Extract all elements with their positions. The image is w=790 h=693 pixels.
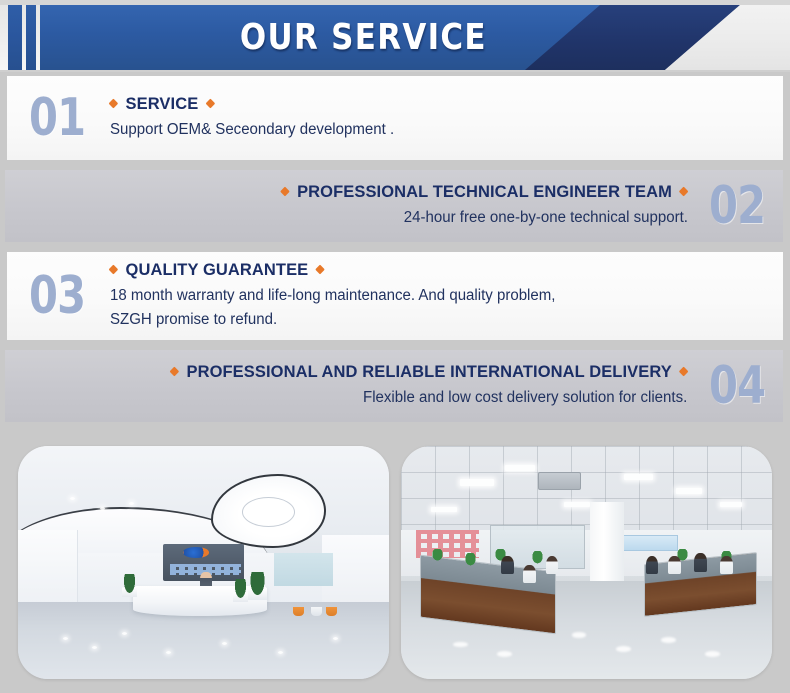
- office-wall-banner: [620, 535, 678, 551]
- ceiling-light-icon: [505, 465, 535, 471]
- diamond-bullet-icon: [280, 187, 290, 197]
- section-number: 04: [709, 360, 765, 412]
- reception-lobby-photo: [18, 446, 389, 679]
- page-header: OUR SERVICE: [0, 0, 790, 72]
- section-number: 02: [709, 180, 765, 232]
- header-stripe-inner: [26, 5, 36, 70]
- office-plant: [464, 553, 477, 567]
- section-description-line: Flexible and low cost delivery solution …: [363, 386, 687, 410]
- floor-reflection-icon: [497, 651, 512, 657]
- ceiling-light-icon: [564, 502, 590, 507]
- ceiling-light-icon: [431, 507, 457, 513]
- open-plan-office-photo: [401, 446, 772, 679]
- floor-reflection-icon: [616, 646, 631, 652]
- office-worker: [720, 556, 733, 575]
- service-section-04: PROFESSIONAL AND RELIABLE INTERNATIONAL …: [0, 350, 790, 422]
- office-worker: [646, 556, 659, 575]
- office-worker: [523, 565, 536, 584]
- floor-reflection-icon: [63, 637, 68, 640]
- header-stripe-outer: [8, 5, 22, 70]
- floor-reflection-icon: [705, 651, 720, 657]
- section-number: 03: [29, 270, 85, 322]
- section-number: 01: [29, 92, 85, 144]
- lobby-planter: [293, 607, 304, 616]
- section-heading-row: PROFESSIONAL TECHNICAL ENGINEER TEAM: [282, 182, 688, 202]
- section-heading: SERVICE: [126, 94, 199, 114]
- floor-reflection-icon: [661, 637, 676, 643]
- ceiling-light-icon: [676, 488, 702, 494]
- floor-reflection-icon: [278, 651, 283, 654]
- diamond-bullet-icon: [679, 187, 689, 197]
- section-heading: PROFESSIONAL TECHNICAL ENGINEER TEAM: [297, 182, 672, 202]
- service-section-01: 01 SERVICE Support OEM& Seceondary devel…: [0, 76, 790, 160]
- diamond-bullet-icon: [316, 265, 326, 275]
- office-worker: [694, 553, 707, 572]
- photo-gallery: [0, 432, 790, 693]
- section-heading: QUALITY GUARANTEE: [126, 260, 309, 280]
- floor-reflection-icon: [222, 642, 227, 645]
- ceiling-light-icon: [624, 474, 654, 480]
- lobby-glass-panel: [274, 553, 333, 586]
- lobby-plant: [248, 572, 267, 600]
- diamond-bullet-icon: [170, 367, 180, 377]
- section-description-line: SZGH promise to refund.: [110, 308, 555, 332]
- ceiling-light-icon: [460, 479, 493, 486]
- service-section-03: 03 QUALITY GUARANTEE 18 month warranty a…: [0, 252, 790, 340]
- section-heading-row: SERVICE: [110, 94, 394, 114]
- office-worker: [501, 556, 514, 575]
- office-worker: [668, 556, 681, 575]
- office-plant: [431, 549, 444, 563]
- lobby-plant: [122, 574, 137, 597]
- section-description-line: Support OEM& Seceondary development .: [110, 118, 394, 142]
- diamond-bullet-icon: [109, 265, 119, 275]
- page-title: OUR SERVICE: [93, 5, 738, 70]
- service-section-02: PROFESSIONAL TECHNICAL ENGINEER TEAM 24-…: [0, 170, 790, 242]
- lobby-planter: [326, 607, 337, 616]
- ceiling-light-icon: [720, 502, 742, 507]
- lobby-planter: [311, 607, 322, 616]
- office-worker: [546, 556, 559, 575]
- diamond-bullet-icon: [679, 367, 689, 377]
- diamond-bullet-icon: [206, 99, 216, 109]
- ceiling-spotlight-icon: [100, 507, 105, 510]
- ceiling-air-conditioner: [538, 472, 581, 490]
- section-description-line: 24-hour free one-by-one technical suppor…: [403, 206, 687, 230]
- section-heading: PROFESSIONAL AND RELIABLE INTERNATIONAL …: [187, 362, 672, 382]
- lobby-plant: [233, 579, 248, 602]
- section-heading-row: PROFESSIONAL AND RELIABLE INTERNATIONAL …: [171, 362, 687, 382]
- section-description-line: 18 month warranty and life-long maintena…: [110, 284, 555, 308]
- office-plant: [531, 551, 544, 565]
- lobby-left-wall: [18, 530, 78, 605]
- szgh-logo-icon: [183, 547, 209, 557]
- diamond-bullet-icon: [109, 99, 119, 109]
- section-heading-row: QUALITY GUARANTEE: [110, 260, 555, 280]
